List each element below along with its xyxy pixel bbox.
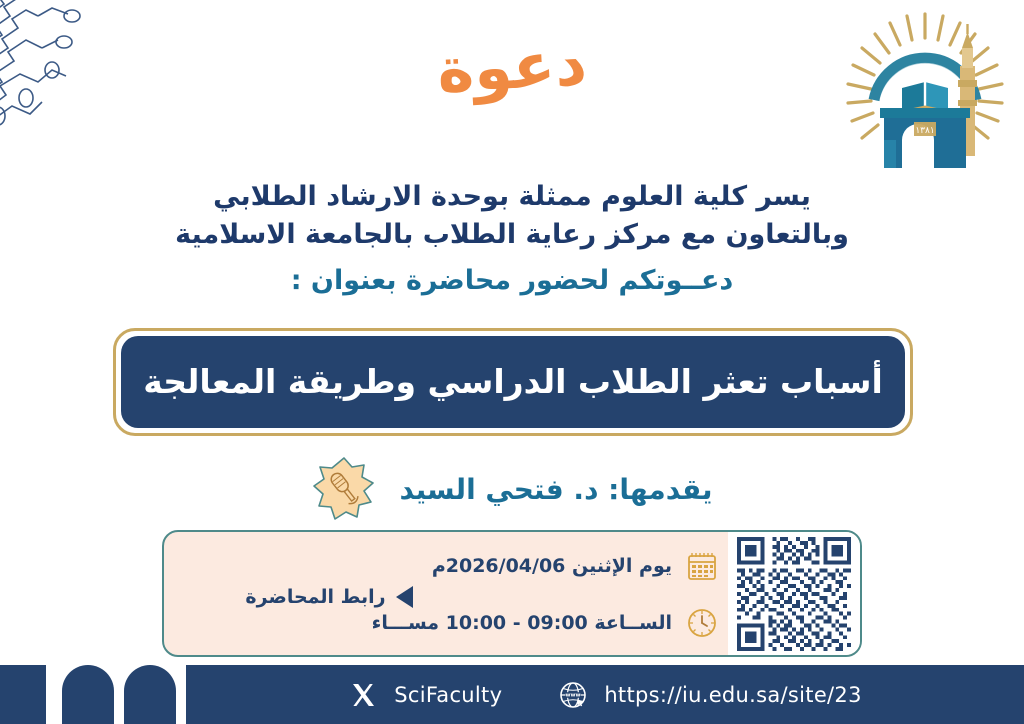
footer-arch-2 [124,665,176,724]
clock-icon [686,607,718,639]
calendar-icon [686,550,718,582]
headline-block: يسر كلية العلوم ممثلة بوحدة الارشاد الطل… [0,178,1024,255]
lecture-title-banner: أسباب تعثر الطلاب الدراسي وطريقة المعالج… [113,328,913,436]
footer: SciFaculty www https://iu.edu.sa/site/23 [0,665,1024,724]
time-text: الســاعة 09:00 - 10:00 مســـاء [372,612,672,634]
qr-code-image [737,537,851,651]
x-logo-icon [348,680,378,710]
qr-code[interactable] [728,532,860,655]
svg-text:١٣٨١: ١٣٨١ [915,126,934,136]
globe-icon: www [558,680,588,710]
presenter-row: يقدمها: د. فتحي السيد [0,452,1024,526]
invitation-poster: ١٣٨١ دعوة يسر كلية العلوم ممثلة بوحدة ال… [0,0,1024,724]
date-text: يوم الإثنين 2026/04/06م [432,555,672,577]
footer-social-x[interactable]: SciFaculty [348,680,502,710]
headline-line-2: وبالتعاون مع مركز رعاية الطلاب بالجامعة … [0,216,1024,254]
date-row: يوم الإثنين 2026/04/06م [432,550,718,582]
lecture-link[interactable]: رابط المحاضرة [164,586,494,608]
footer-website[interactable]: www https://iu.edu.sa/site/23 [558,680,861,710]
x-handle-label: SciFaculty [394,683,502,707]
subheadline: دعــوتكم لحضور محاضرة بعنوان : [0,265,1024,296]
footer-arch-1 [62,665,114,724]
website-url-label: https://iu.edu.sa/site/23 [604,683,861,707]
lecture-title-inner: أسباب تعثر الطلاب الدراسي وطريقة المعالج… [121,336,905,428]
microphone-icon [311,456,377,522]
headline-line-1: يسر كلية العلوم ممثلة بوحدة الارشاد الطل… [0,178,1024,216]
lecture-link-label: رابط المحاضرة [245,586,385,608]
time-row: الســاعة 09:00 - 10:00 مســـاء [372,607,718,639]
svg-text:www: www [566,692,581,698]
info-right: يوم الإثنين 2026/04/06م [164,532,728,655]
footer-block-left [0,665,46,724]
footer-content: SciFaculty www https://iu.edu.sa/site/23 [186,665,1024,724]
info-panel: يوم الإثنين 2026/04/06م [162,530,862,657]
presenter-name: يقدمها: د. فتحي السيد [399,473,712,506]
triangle-left-icon [396,586,413,608]
lecture-title-text: أسباب تعثر الطلاب الدراسي وطريقة المعالج… [125,361,901,402]
